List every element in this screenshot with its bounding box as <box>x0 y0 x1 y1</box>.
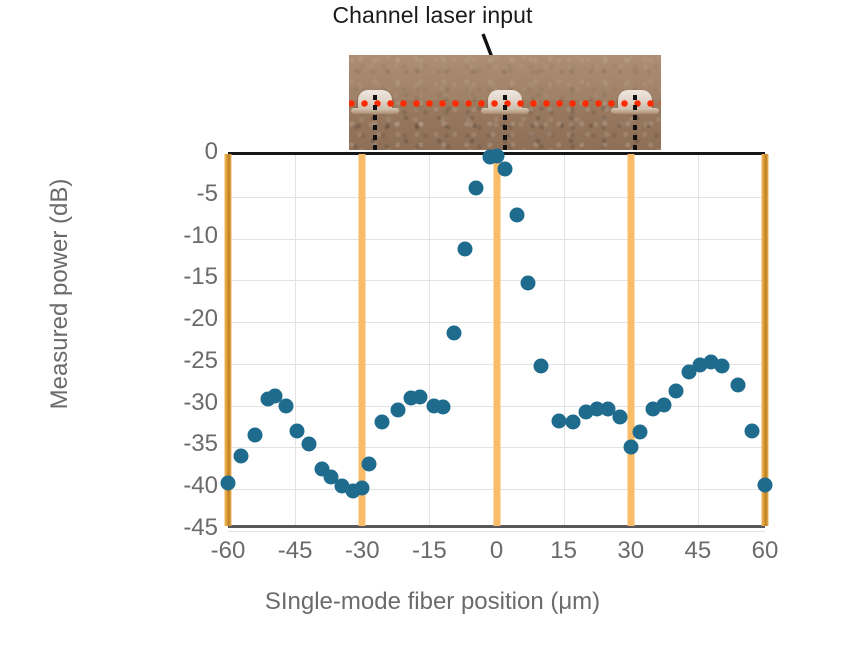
data-point <box>758 478 773 493</box>
y-axis-ticks: 0-5-10-15-20-25-30-35-40-45 <box>146 152 218 528</box>
data-point <box>668 384 683 399</box>
x-tick-label: -60 <box>211 537 246 565</box>
data-point <box>520 275 535 290</box>
x-tick-label: 0 <box>490 537 503 565</box>
data-point <box>247 427 262 442</box>
data-point <box>509 208 524 223</box>
data-point <box>361 457 376 472</box>
dropline-minus30 <box>373 95 377 152</box>
data-point <box>469 180 484 195</box>
x-tick-label: 15 <box>550 537 577 565</box>
plot-area <box>228 152 765 528</box>
gridline-vertical <box>698 155 699 525</box>
y-tick-label: -30 <box>183 389 218 417</box>
gridline-horizontal <box>228 531 765 532</box>
data-point <box>657 397 672 412</box>
data-point <box>391 402 406 417</box>
channel-marker-line <box>225 154 232 526</box>
dropline-plus30 <box>633 95 637 152</box>
y-tick-label: -35 <box>183 430 218 458</box>
y-tick-label: -15 <box>183 263 218 291</box>
y-axis-label: Measured power (dB) <box>46 144 74 444</box>
data-point <box>446 325 461 340</box>
channel-marker-line <box>493 154 500 526</box>
x-tick-label: 45 <box>685 537 712 565</box>
gridline-vertical <box>429 155 430 525</box>
channel-marker-line <box>762 154 769 526</box>
y-tick-label: -40 <box>183 472 218 500</box>
data-point <box>279 398 294 413</box>
data-point <box>565 414 580 429</box>
channel-marker-line <box>627 154 634 526</box>
data-point <box>435 399 450 414</box>
data-point <box>744 423 759 438</box>
y-tick-label: -5 <box>197 180 218 208</box>
data-point <box>301 437 316 452</box>
x-tick-label: 30 <box>617 537 644 565</box>
gridline-vertical <box>564 155 565 525</box>
channel-laser-input-label: Channel laser input <box>0 2 865 29</box>
data-point <box>623 440 638 455</box>
data-point <box>498 162 513 177</box>
data-point <box>612 409 627 424</box>
x-axis-label: SIngle-mode fiber position (μm) <box>0 588 865 616</box>
data-point <box>458 241 473 256</box>
data-point <box>731 377 746 392</box>
y-tick-label: -20 <box>183 305 218 333</box>
data-point <box>375 415 390 430</box>
data-point <box>534 358 549 373</box>
data-point <box>632 425 647 440</box>
x-tick-label: 60 <box>752 537 779 565</box>
dropline-zero <box>503 95 507 152</box>
y-tick-label: -25 <box>183 347 218 375</box>
data-point <box>234 448 249 463</box>
figure-root: Channel laser input 0-5-10-15-20-25-30-3… <box>0 0 865 646</box>
x-axis-ticks: -60-45-30-15015304560 <box>228 537 765 577</box>
x-tick-label: -15 <box>412 537 447 565</box>
y-tick-label: -10 <box>183 222 218 250</box>
x-tick-label: -45 <box>278 537 313 565</box>
data-point <box>715 358 730 373</box>
x-tick-label: -30 <box>345 537 380 565</box>
data-point <box>221 476 236 491</box>
data-point <box>489 148 504 163</box>
y-tick-label: 0 <box>205 138 218 166</box>
data-point <box>290 423 305 438</box>
data-point <box>355 480 370 495</box>
gridline-vertical <box>295 155 296 525</box>
